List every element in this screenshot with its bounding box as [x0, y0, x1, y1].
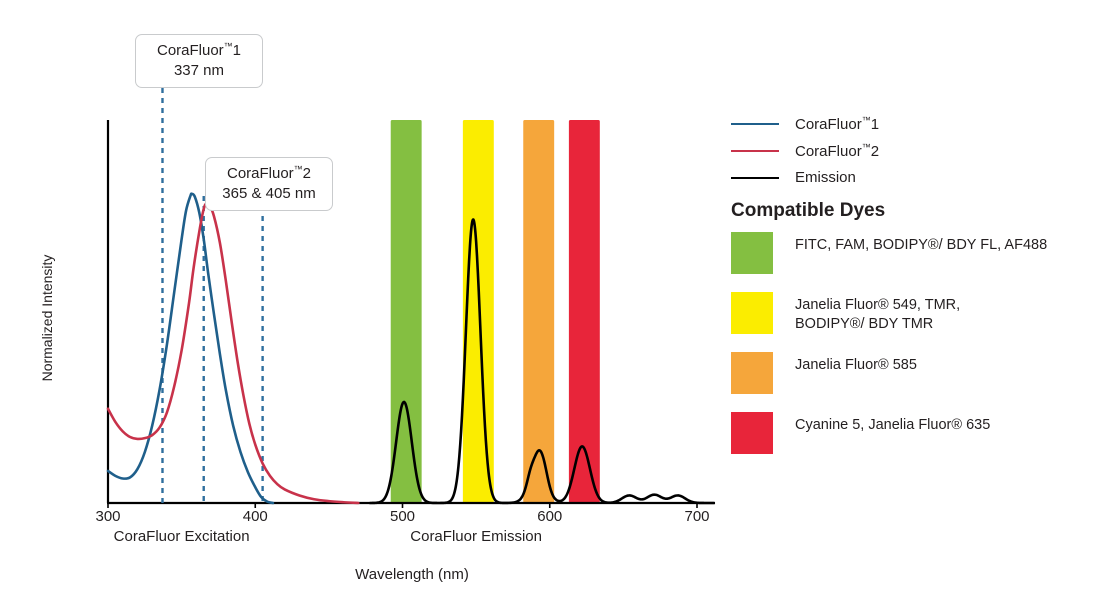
section-label-excitation: CoraFluor Excitation [72, 528, 292, 545]
spectra-figure: CoraFluor™1 337 nm CoraFluor™2 365 & 405… [0, 0, 1110, 612]
legend-item-2[interactable]: Emission [731, 164, 1091, 191]
emission-band-layer [391, 120, 600, 503]
callout-2-value: 365 & 405 nm [218, 184, 320, 204]
callout-1-title: CoraFluor™1 [148, 41, 250, 61]
trademark-icon: ™ [862, 142, 871, 152]
trademark-icon: ™ [862, 115, 871, 125]
curve-excitation-1 [108, 203, 358, 503]
dye-color-swatch [731, 232, 773, 274]
trademark-icon: ™ [294, 164, 303, 174]
x-tick-label-500: 500 [373, 508, 433, 525]
dye-label: FITC, FAM, BODIPY®/ BDY FL, AF488 [795, 232, 1047, 255]
compatible-dyes-title: Compatible Dyes [731, 200, 885, 222]
callout-1-value: 337 nm [148, 61, 250, 81]
legend-item-label: CoraFluor™1 [795, 115, 879, 133]
callout-2-title: CoraFluor™2 [218, 164, 320, 184]
dye-label: Cyanine 5, Janelia Fluor® 635 [795, 412, 990, 435]
emission-band-3 [569, 120, 600, 503]
section-label-emission: CoraFluor Emission [366, 528, 586, 545]
dye-row-0[interactable]: FITC, FAM, BODIPY®/ BDY FL, AF488 [731, 232, 1101, 274]
x-tick-label-400: 400 [225, 508, 285, 525]
dye-row-2[interactable]: Janelia Fluor® 585 [731, 352, 1101, 394]
callout-corafluor-2: CoraFluor™2 365 & 405 nm [205, 157, 333, 211]
dye-color-swatch [731, 352, 773, 394]
emission-band-2 [523, 120, 554, 503]
dye-row-3[interactable]: Cyanine 5, Janelia Fluor® 635 [731, 412, 1101, 454]
legend-item-label: CoraFluor™2 [795, 142, 879, 160]
dye-color-swatch [731, 412, 773, 454]
legend-line-icon [731, 150, 779, 152]
legend-line-icon [731, 123, 779, 125]
callout-corafluor-1: CoraFluor™1 337 nm [135, 34, 263, 88]
y-axis-title: Normalized Intensity [39, 238, 55, 398]
x-tick-label-700: 700 [667, 508, 727, 525]
dye-label: Janelia Fluor® 585 [795, 352, 917, 375]
compatible-dyes-list: FITC, FAM, BODIPY®/ BDY FL, AF488Janelia… [731, 232, 1101, 472]
trademark-icon: ™ [224, 41, 233, 51]
dye-color-swatch [731, 292, 773, 334]
legend-item-0[interactable]: CoraFluor™1 [731, 110, 1091, 137]
x-tick-label-600: 600 [520, 508, 580, 525]
curve-excitation-0 [108, 194, 273, 503]
legend-line-icon [731, 177, 779, 179]
dye-row-1[interactable]: Janelia Fluor® 549, TMR,BODIPY®/ BDY TMR [731, 292, 1101, 334]
x-tick-label-300: 300 [78, 508, 138, 525]
x-axis-title: Wavelength (nm) [262, 566, 562, 583]
series-legend: CoraFluor™1CoraFluor™2Emission [731, 110, 1091, 191]
legend-item-1[interactable]: CoraFluor™2 [731, 137, 1091, 164]
dye-label: Janelia Fluor® 549, TMR,BODIPY®/ BDY TMR [795, 292, 960, 334]
legend-item-label: Emission [795, 169, 856, 186]
